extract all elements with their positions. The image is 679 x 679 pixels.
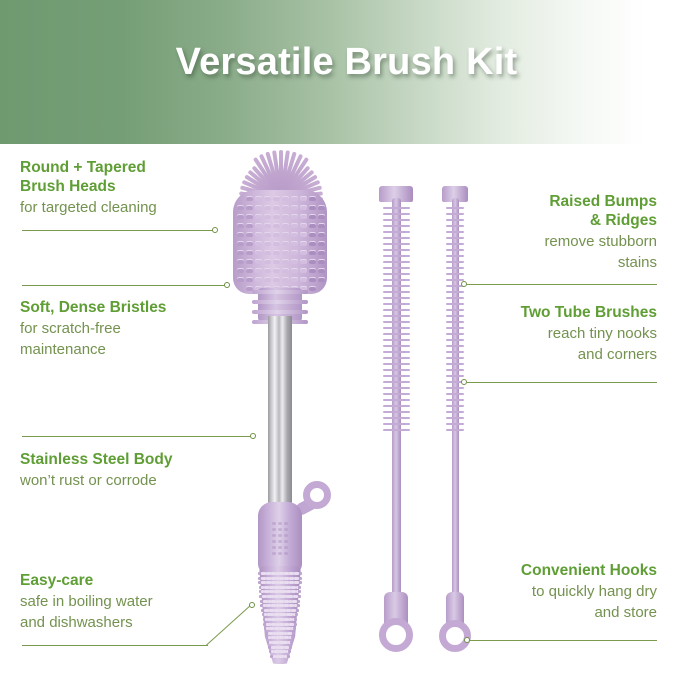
- brush-nub: [309, 277, 316, 282]
- tube-brush-bristle: [383, 333, 410, 335]
- brush-nub: [300, 250, 307, 255]
- callout-body-line1: to quickly hang dry: [532, 583, 657, 600]
- tapered-brush-nub: [299, 577, 302, 580]
- tube-brush-bristle: [383, 237, 410, 239]
- brush-nub: [273, 259, 280, 264]
- collar-ring: [252, 290, 308, 294]
- brush-nub: [282, 196, 289, 201]
- tube-brush-bristle: [383, 231, 410, 233]
- callout-body-line1: for scratch-free: [20, 320, 121, 337]
- callout-easy-care: Easy-care safe in boiling water and dish…: [20, 571, 235, 633]
- grip-texture-dot: [284, 528, 288, 531]
- brush-nub: [246, 268, 253, 273]
- tube-brush-bristle: [383, 261, 410, 263]
- page-title: Versatile Brush Kit: [0, 41, 679, 84]
- brush-nub: [273, 241, 280, 246]
- brush-nub: [318, 268, 325, 273]
- brush-nub: [255, 277, 262, 282]
- callout-soft-bristles: Soft, Dense Bristles for scratch-free ma…: [20, 298, 235, 360]
- leader-line-round-tapered: [22, 230, 214, 231]
- brush-nub: [246, 250, 253, 255]
- grip-texture-dot: [284, 540, 288, 543]
- tube-brush-bristle: [446, 417, 464, 419]
- tube-brush-bristle: [383, 405, 410, 407]
- brush-nub: [237, 214, 244, 219]
- brush-nub: [300, 268, 307, 273]
- callout-title: Round + Tapered Brush Heads: [20, 158, 235, 196]
- grip-texture-dot: [284, 522, 288, 525]
- tube-brush-bristle: [383, 417, 410, 419]
- grip-texture: [272, 522, 288, 556]
- grip-texture-dot: [272, 552, 276, 555]
- collar-ring: [252, 300, 308, 304]
- brush-nub: [291, 250, 298, 255]
- brush-nub: [300, 205, 307, 210]
- callout-body: safe in boiling water and dishwashers: [20, 591, 235, 633]
- tapered-brush-nub: [299, 581, 302, 584]
- tube-brush-bristle: [383, 363, 410, 365]
- brush-nub: [309, 196, 316, 201]
- tube-brush-bristle: [383, 381, 410, 383]
- brush-nub: [309, 241, 316, 246]
- brush-nub: [282, 214, 289, 219]
- tube-brush-bristle: [383, 339, 410, 341]
- tube-brush-bristle: [383, 351, 410, 353]
- callout-title-line2: Brush Heads: [20, 178, 116, 195]
- tube-brush-bristle: [446, 429, 464, 431]
- brush-nub: [282, 277, 289, 282]
- brush-nub: [246, 223, 253, 228]
- brush-nub: [273, 232, 280, 237]
- grip-texture-dot: [272, 522, 276, 525]
- brush-nub: [291, 196, 298, 201]
- brush-nub: [264, 214, 271, 219]
- tapered-brush-nub: [296, 609, 299, 612]
- callout-stainless-steel: Stainless Steel Body won’t rust or corro…: [20, 450, 235, 491]
- brush-nub: [273, 214, 280, 219]
- brush-nub: [309, 223, 316, 228]
- brush-nub: [318, 232, 325, 237]
- brush-nub: [318, 223, 325, 228]
- brush-nub: [255, 259, 262, 264]
- brush-nub: [255, 232, 262, 237]
- tube-brush-bristle: [383, 387, 410, 389]
- callout-title: Stainless Steel Body: [20, 450, 235, 469]
- callout-title-line2: & Ridges: [590, 212, 657, 229]
- leader-line-easycare-base: [22, 645, 208, 646]
- callout-round-tapered: Round + Tapered Brush Heads for targeted…: [20, 158, 235, 218]
- tube-brush-bristle: [383, 213, 410, 215]
- grip-texture-dot: [284, 534, 288, 537]
- tube-brush-bristle: [383, 255, 410, 257]
- tube-brush-bristle: [383, 375, 410, 377]
- collar-ring: [252, 310, 308, 314]
- tube-brush-bristle: [383, 273, 410, 275]
- brush-nub: [264, 250, 271, 255]
- grip-texture-dot: [272, 528, 276, 531]
- brush-nub: [309, 250, 316, 255]
- brush-nub: [282, 268, 289, 273]
- tube-brush-bristle: [383, 429, 410, 431]
- callout-title: Convenient Hooks: [442, 561, 657, 580]
- callout-body: for scratch-free maintenance: [20, 318, 235, 360]
- handle-hook-ring: [303, 481, 331, 509]
- tube-brush-bristle: [383, 345, 410, 347]
- brush-nub: [237, 277, 244, 282]
- brush-nub: [282, 223, 289, 228]
- tube-brush-bristle: [383, 279, 410, 281]
- brush-nub: [264, 277, 271, 282]
- brush-nub: [291, 232, 298, 237]
- tapered-brush-nub: [297, 604, 300, 607]
- brush-nub: [309, 268, 316, 273]
- brush-nub: [318, 277, 325, 282]
- callout-body: for targeted cleaning: [20, 197, 235, 218]
- brush-nub: [273, 223, 280, 228]
- tube-brush-bristle: [446, 375, 464, 377]
- brush-nub: [309, 205, 316, 210]
- brush-nub: [246, 277, 253, 282]
- tube-brush-bristle: [383, 303, 410, 305]
- tube-brush-bristle: [446, 279, 464, 281]
- tapered-brush-nub: [295, 613, 298, 616]
- callout-raised-bumps: Raised Bumps & Ridges remove stubborn st…: [442, 192, 657, 273]
- brush-nub: [237, 241, 244, 246]
- leader-line-soft-bristles: [22, 285, 226, 286]
- brush-nub: [318, 259, 325, 264]
- leader-line-hooks: [470, 640, 657, 641]
- tapered-brush-nub: [298, 590, 301, 593]
- brush-nub: [255, 223, 262, 228]
- callout-body: won’t rust or corrode: [20, 470, 235, 491]
- tapered-brush-nub: [299, 572, 302, 575]
- brush-nub: [246, 259, 253, 264]
- grip-texture-dot: [272, 540, 276, 543]
- brush-nub: [291, 259, 298, 264]
- tube-brush-bristle: [383, 225, 410, 227]
- brush-nub: [300, 277, 307, 282]
- brush-nub: [309, 232, 316, 237]
- tube-brush-bristle: [446, 393, 464, 395]
- brush-nub: [309, 286, 316, 291]
- brush-nub: [291, 241, 298, 246]
- leader-dot-easycare: [249, 602, 255, 608]
- callout-body-line2: and corners: [578, 346, 657, 363]
- brush-nub: [237, 223, 244, 228]
- brush-nub: [291, 223, 298, 228]
- grip-texture-dot: [284, 546, 288, 549]
- brush-nub: [273, 196, 280, 201]
- brush-nub: [300, 241, 307, 246]
- stainless-steel-rod: [268, 316, 292, 514]
- brush-nub: [264, 196, 271, 201]
- leader-dot-soft-bristles: [224, 282, 230, 288]
- infographic-root: Versatile Brush Kit Round + Tapered Bru: [0, 0, 679, 679]
- tube-brush-bristle: [383, 285, 410, 287]
- tube-brush-bristle: [446, 291, 464, 293]
- tube-brush-bristle: [383, 393, 410, 395]
- callout-title-line1: Round + Tapered: [20, 159, 146, 176]
- brush-nub: [300, 259, 307, 264]
- tube-brush-bristle: [446, 297, 464, 299]
- brush-nub: [255, 250, 262, 255]
- leader-line-stainless: [22, 436, 252, 437]
- brush-nub: [237, 259, 244, 264]
- tube-brush-bristle: [383, 291, 410, 293]
- brush-nub: [273, 205, 280, 210]
- brush-nub: [273, 268, 280, 273]
- brush-nub: [273, 250, 280, 255]
- callout-title-line1: Raised Bumps: [549, 193, 657, 210]
- brush-nub: [255, 241, 262, 246]
- tapered-brush-nub: [298, 586, 301, 589]
- grip-texture-dot: [278, 528, 282, 531]
- brush-nub: [264, 268, 271, 273]
- brush-nub: [246, 232, 253, 237]
- tube-brush-bristle: [383, 357, 410, 359]
- brush-nub: [255, 214, 262, 219]
- grip-texture-dot: [278, 534, 282, 537]
- callout-body: to quickly hang dry and store: [442, 581, 657, 623]
- tube-brush-bristle: [383, 219, 410, 221]
- tapered-brush-nub: [292, 632, 295, 635]
- brush-nub: [246, 196, 253, 201]
- tube-brush-bristle: [446, 369, 464, 371]
- tapered-brush-nub: [290, 641, 293, 644]
- tube-brush-bristle: [446, 423, 464, 425]
- brush-nub: [264, 223, 271, 228]
- tube-brush-bristle: [383, 369, 410, 371]
- tube-brush-bristle: [383, 267, 410, 269]
- grip-texture-dot: [272, 546, 276, 549]
- brush-nub: [237, 205, 244, 210]
- callout-convenient-hooks: Convenient Hooks to quickly hang dry and…: [442, 561, 657, 623]
- leader-dot-stainless: [250, 433, 256, 439]
- brush-nub: [309, 214, 316, 219]
- tapered-brush-nub: [298, 595, 301, 598]
- brush-nub: [282, 250, 289, 255]
- brush-nub: [291, 268, 298, 273]
- callout-body-line2: and dishwashers: [20, 614, 133, 631]
- brush-nub: [246, 214, 253, 219]
- tube-brush-bristle: [383, 315, 410, 317]
- tapered-brush-nub: [294, 618, 297, 621]
- tube-brush-bristle: [446, 399, 464, 401]
- grip-texture-dot: [278, 522, 282, 525]
- brush-nub: [237, 268, 244, 273]
- brush-nub: [282, 205, 289, 210]
- brush-nub: [318, 214, 325, 219]
- brush-nub: [255, 268, 262, 273]
- grip-texture-dot: [278, 540, 282, 543]
- round-brush-head: [225, 152, 335, 302]
- brush-nub: [282, 232, 289, 237]
- brush-nub: [282, 259, 289, 264]
- tube-brush-bristle: [383, 309, 410, 311]
- tube-brush-bristle: [383, 327, 410, 329]
- tube-brush-bristle: [383, 423, 410, 425]
- brush-nub: [237, 232, 244, 237]
- tube-brush-bristle: [446, 387, 464, 389]
- callout-body-line2: maintenance: [20, 341, 106, 358]
- brush-nub: [246, 241, 253, 246]
- brush-nub: [264, 205, 271, 210]
- brush-nub: [273, 277, 280, 282]
- brush-nub: [291, 205, 298, 210]
- brush-nub: [318, 205, 325, 210]
- brush-nub: [246, 205, 253, 210]
- brush-nub: [300, 196, 307, 201]
- callout-body: reach tiny nooks and corners: [442, 323, 657, 365]
- tube-brush-bristle: [446, 405, 464, 407]
- callout-title: Soft, Dense Bristles: [20, 298, 235, 317]
- grip-texture-dot: [272, 534, 276, 537]
- brush-nub: [300, 214, 307, 219]
- tapered-brush-nub: [287, 655, 290, 658]
- callout-body: remove stubborn stains: [442, 231, 657, 273]
- tube-brush-bristle: [383, 411, 410, 413]
- tube-brush-bristle: [383, 243, 410, 245]
- brush-nub: [318, 241, 325, 246]
- tapered-brush-nub: [289, 646, 292, 649]
- brush-nub: [309, 259, 316, 264]
- brush-nub: [300, 232, 307, 237]
- tube-brush-hook-loop: [439, 620, 471, 652]
- tube-brush-bristle: [383, 297, 410, 299]
- callout-two-tube-brushes: Two Tube Brushes reach tiny nooks and co…: [442, 303, 657, 365]
- callout-body-line2: and store: [594, 604, 657, 621]
- tapered-brush-nub: [297, 600, 300, 603]
- callout-body-line1: safe in boiling water: [20, 593, 153, 610]
- tapered-brush-nub: [288, 650, 291, 653]
- grip-texture-dot: [278, 552, 282, 555]
- callout-title: Easy-care: [20, 571, 235, 590]
- callout-body-line2: stains: [618, 254, 657, 271]
- tube-brush-bristle: [383, 399, 410, 401]
- leader-line-two-tube: [467, 382, 657, 383]
- brush-nub: [255, 196, 262, 201]
- grip-texture-dot: [278, 546, 282, 549]
- brush-nub: [300, 223, 307, 228]
- grip-texture-dot: [284, 552, 288, 555]
- callout-body-line1: reach tiny nooks: [548, 325, 657, 342]
- brush-nub: [237, 250, 244, 255]
- tube-brush-hook-loop: [379, 618, 413, 652]
- tapered-brush-nub: [294, 623, 297, 626]
- brush-nub: [282, 241, 289, 246]
- tube-brush-bristle: [383, 207, 410, 209]
- brush-nub: [264, 241, 271, 246]
- tube-brush-bristle: [383, 321, 410, 323]
- brush-nub: [255, 205, 262, 210]
- leader-dot-round-tapered: [212, 227, 218, 233]
- brush-nub: [291, 214, 298, 219]
- tube-brush-bristle: [446, 411, 464, 413]
- tube-brush-bristle: [383, 249, 410, 251]
- callout-body-line1: remove stubborn: [544, 233, 657, 250]
- leader-line-raised-bumps: [467, 284, 657, 285]
- tapered-brush-nub: [293, 627, 296, 630]
- brush-nub: [291, 277, 298, 282]
- brush-nub: [318, 250, 325, 255]
- brush-nub: [264, 259, 271, 264]
- brush-nub: [264, 232, 271, 237]
- callout-title: Raised Bumps & Ridges: [442, 192, 657, 230]
- callout-title: Two Tube Brushes: [442, 303, 657, 322]
